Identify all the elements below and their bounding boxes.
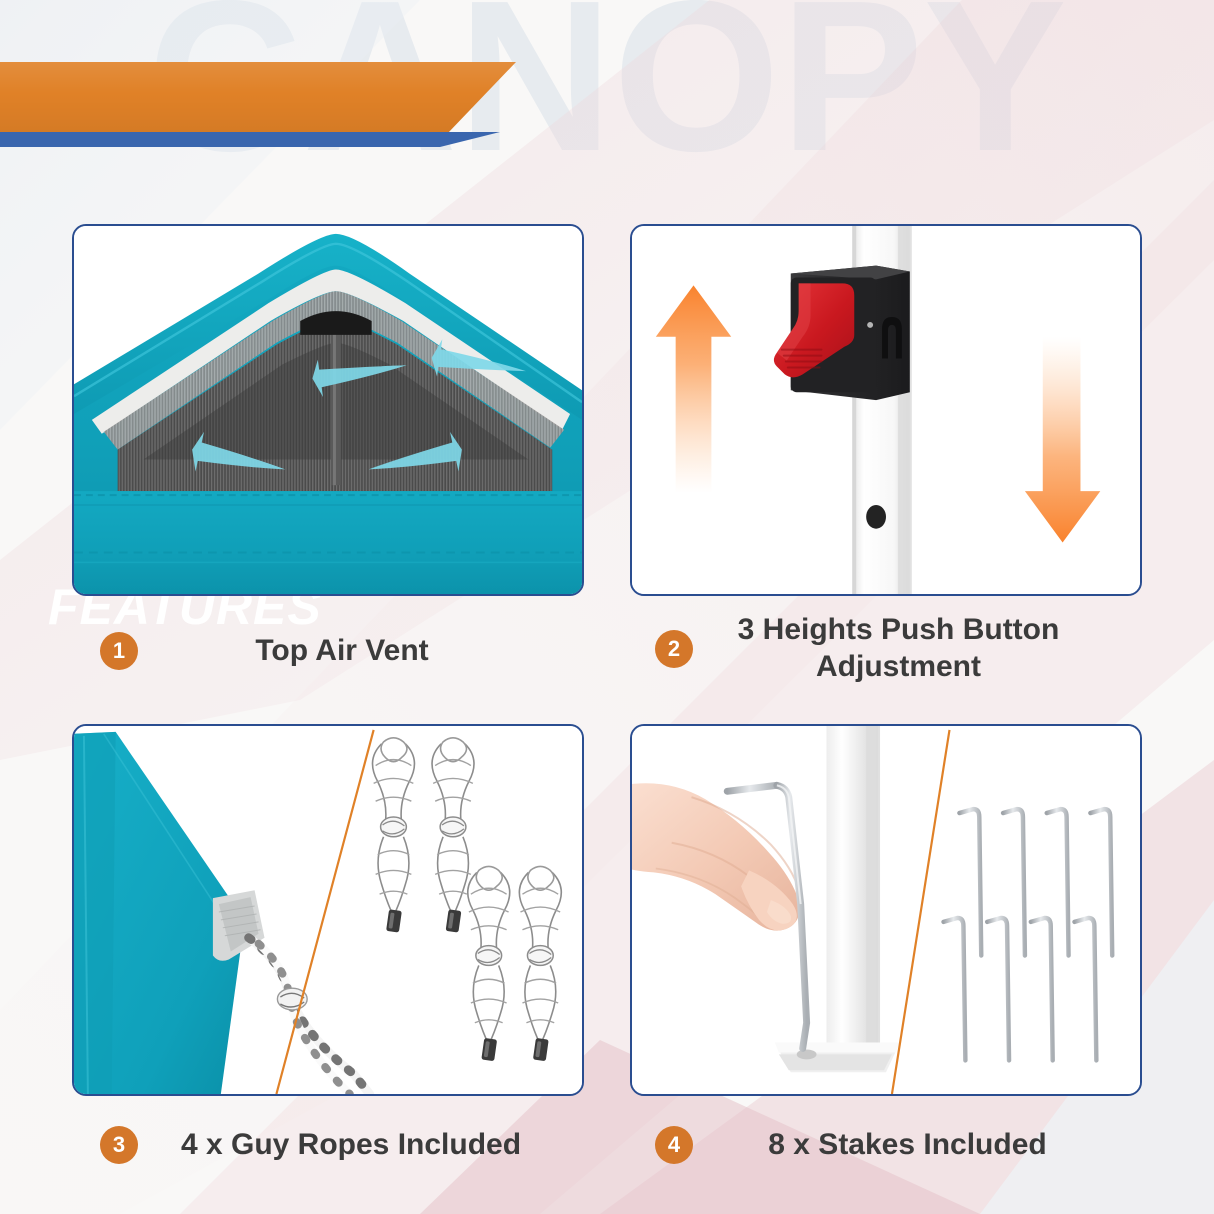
feature-panel-top-air-vent [72,224,584,596]
push-button-housing-icon [632,226,1140,594]
feature-label-1: Top Air Vent [138,633,584,670]
feature-caption-4: 4 8 x Stakes Included [655,1126,1142,1164]
feature-panel-stakes-included [630,724,1142,1096]
features-banner [0,62,516,132]
stake-icon [632,726,1140,1094]
feature-label-4: 8 x Stakes Included [693,1127,1142,1164]
feature-caption-2: 2 3 Heights Push Button Adjustment [655,612,1142,685]
feature-label-2-line-2: Adjustment [693,649,1104,686]
step-badge-4: 4 [655,1126,693,1164]
feature-panel-push-button-adjustment [630,224,1142,596]
step-badge-2: 2 [655,630,693,668]
guy-rope-icon [74,726,582,1094]
banner-underline [0,132,500,147]
feature-label-3: 4 x Guy Ropes Included [138,1127,584,1164]
feature-label-2: 3 Heights Push Button Adjustment [693,612,1142,685]
feature-caption-3: 3 4 x Guy Ropes Included [100,1126,584,1164]
canopy-peak-icon [74,226,582,594]
step-badge-3: 3 [100,1126,138,1164]
banner-gradient-overlay [0,62,516,132]
feature-panel-guy-ropes-included [72,724,584,1096]
feature-label-2-line-1: 3 Heights Push Button [693,612,1104,649]
feature-caption-1: 1 Top Air Vent [100,632,584,670]
step-badge-1: 1 [100,632,138,670]
